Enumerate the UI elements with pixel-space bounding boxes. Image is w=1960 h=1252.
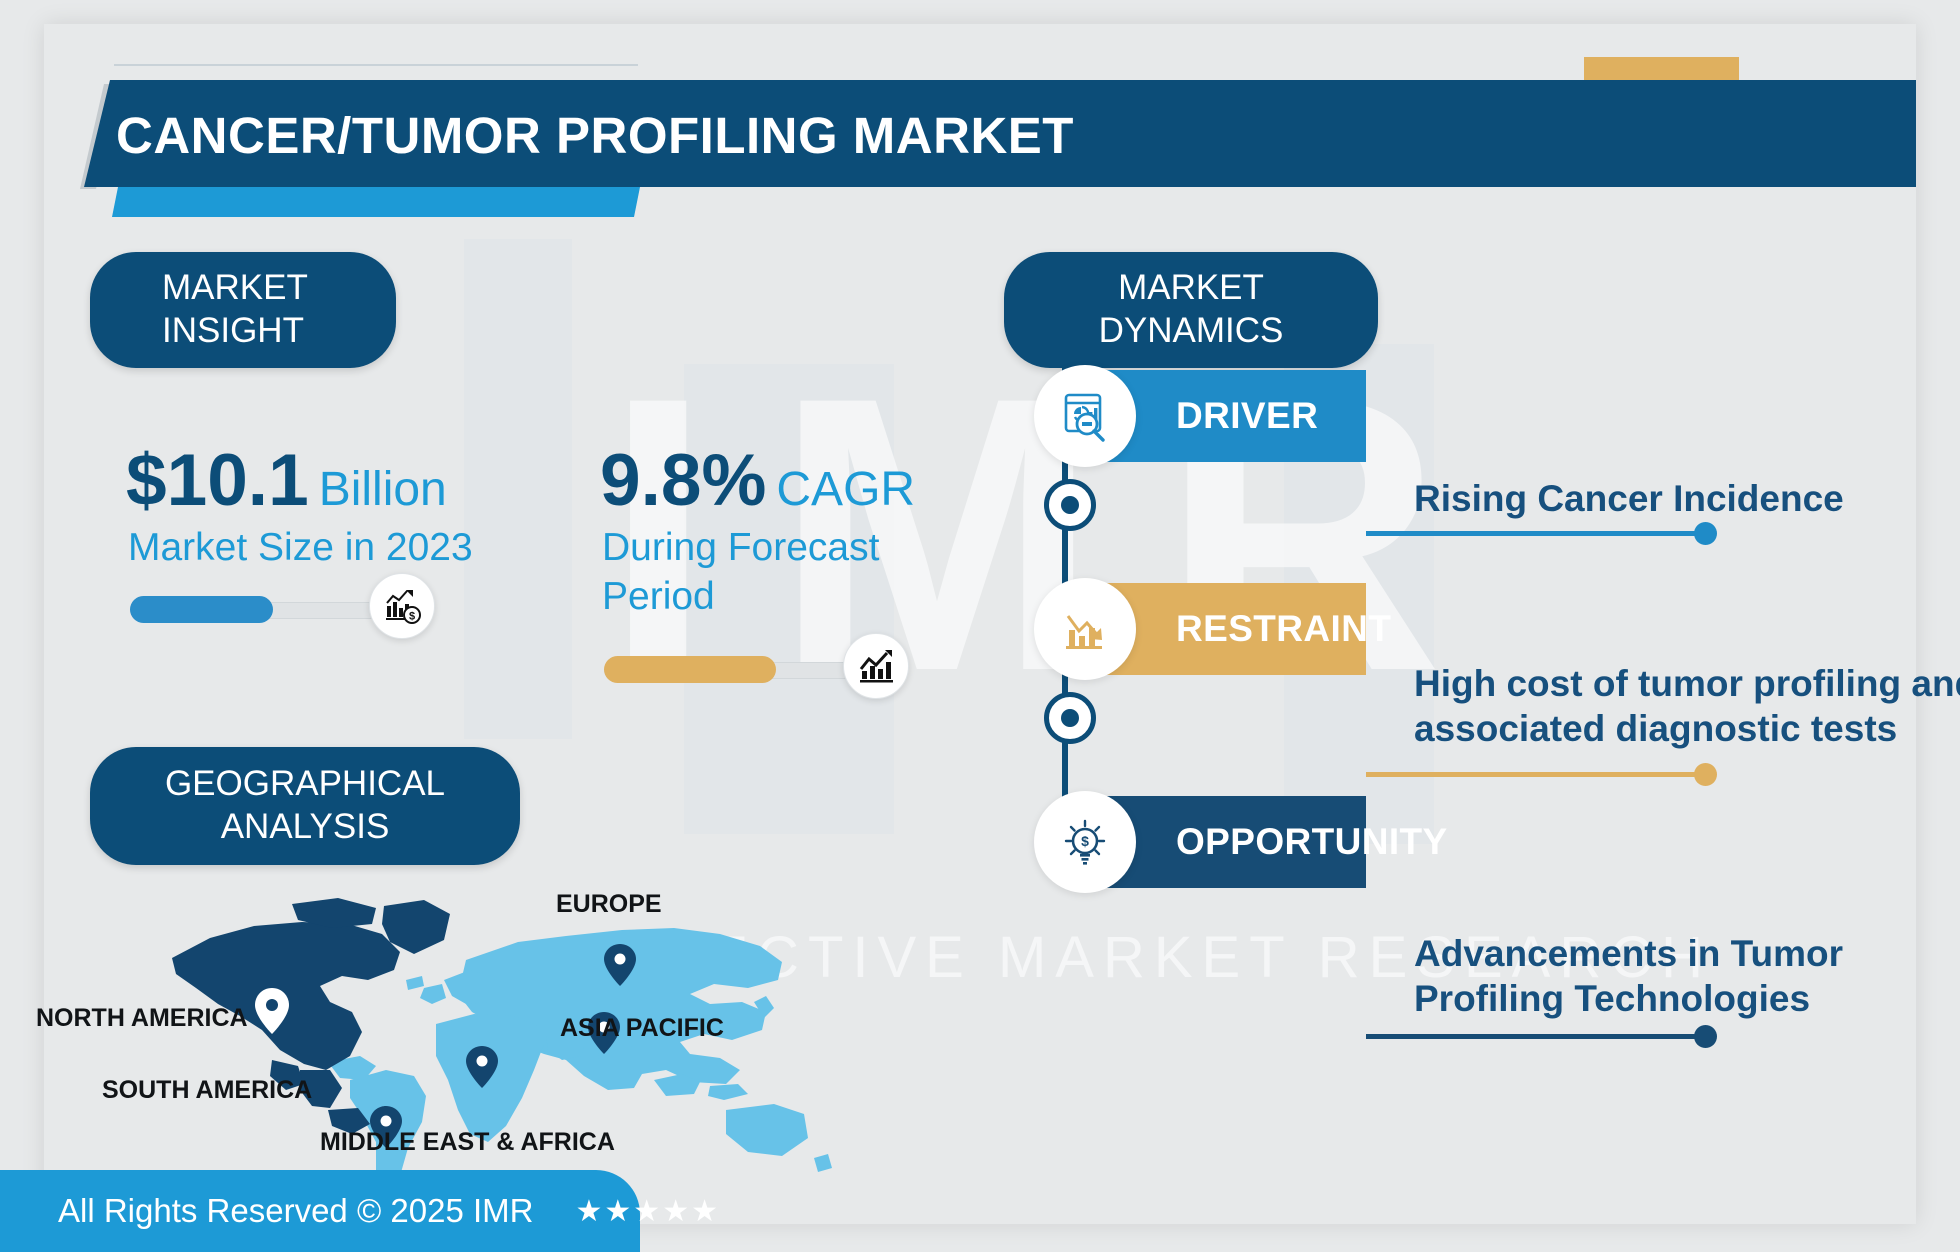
map-label-north-america: NORTH AMERICA <box>36 1004 248 1033</box>
market-size-progress-fill <box>130 596 273 623</box>
cagr-progress-fill <box>604 656 776 683</box>
opportunity-connector <box>1366 1034 1706 1039</box>
opportunity-label: OPPORTUNITY <box>1176 821 1448 863</box>
market-size-stat: $10.1Billion <box>126 439 447 522</box>
market-size-caption: Market Size in 2023 <box>128 524 548 573</box>
rating-stars-icon: ★★★★★ <box>576 1194 720 1229</box>
driver-bar: DRIVER <box>1066 370 1366 462</box>
restraint-text: High cost of tumor profiling and associa… <box>1414 661 1960 751</box>
svg-text:$: $ <box>409 611 415 623</box>
watermark-shape-1 <box>464 239 572 739</box>
market-insight-pill: MARKET INSIGHT <box>90 252 396 368</box>
lightbulb-dollar-glyph: $ <box>1056 813 1114 871</box>
declining-bar-chart-glyph <box>1056 600 1114 658</box>
market-insight-pill-line1: MARKET <box>162 267 308 310</box>
map-label-europe: EUROPE <box>556 890 662 919</box>
restraint-connector <box>1366 772 1706 777</box>
restraint-label: RESTRAINT <box>1176 608 1391 650</box>
cagr-unit: CAGR <box>776 463 915 516</box>
header-underbar <box>112 187 640 217</box>
driver-text: Rising Cancer Incidence <box>1414 476 1960 521</box>
footer-bar: All Rights Reserved © 2025 IMR ★★★★★ <box>0 1170 640 1252</box>
driver-connector <box>1366 531 1706 536</box>
driver-label: DRIVER <box>1176 395 1318 437</box>
declining-bar-chart-icon <box>1034 578 1136 680</box>
map-label-middle-east-africa: MIDDLE EAST & AFRICA <box>320 1128 615 1157</box>
geographical-pill-line2: ANALYSIS <box>221 806 390 849</box>
dynamics-node-2 <box>1044 692 1096 744</box>
map-label-south-america: SOUTH AMERICA <box>102 1076 312 1105</box>
header-gold-accent <box>1584 57 1739 83</box>
header-hairline <box>114 64 638 66</box>
restraint-bar: RESTRAINT <box>1066 583 1366 675</box>
copyright-text: All Rights Reserved © 2025 IMR <box>58 1192 534 1230</box>
page-title: CANCER/TUMOR PROFILING MARKET <box>116 106 1074 165</box>
opportunity-bar: $ OPPORTUNITY <box>1066 796 1366 888</box>
cagr-progress-track <box>604 662 866 679</box>
market-size-unit: Billion <box>319 463 447 516</box>
growth-arrow-chart-icon <box>843 633 909 699</box>
lightbulb-dollar-icon: $ <box>1034 791 1136 893</box>
map-label-asia-pacific: ASIA PACIFIC <box>560 1014 724 1043</box>
analytics-magnifier-icon <box>1034 365 1136 467</box>
market-insight-pill-line2: INSIGHT <box>162 310 304 353</box>
market-size-progress-track <box>130 602 392 619</box>
svg-text:$: $ <box>1081 833 1089 849</box>
growth-arrow-chart-glyph <box>856 646 896 686</box>
analytics-magnifier-glyph <box>1056 387 1114 445</box>
geographical-pill-line1: GEOGRAPHICAL <box>165 763 445 806</box>
driver-connector-dot <box>1694 522 1717 545</box>
cagr-stat: 9.8%CAGR <box>600 439 915 522</box>
market-dynamics-pill: MARKET DYNAMICS <box>1004 252 1378 368</box>
market-dynamics-pill-line1: MARKET <box>1118 267 1264 310</box>
opportunity-connector-dot <box>1694 1025 1717 1048</box>
restraint-connector-dot <box>1694 763 1717 786</box>
bar-chart-dollar-glyph: $ <box>382 586 422 626</box>
opportunity-text: Advancements in Tumor Profiling Technolo… <box>1414 931 1960 1021</box>
infographic-page: IMR SPECTIVE MARKET RESEARCH CANCER/TUMO… <box>0 0 1960 1252</box>
dynamics-node-1 <box>1044 479 1096 531</box>
market-size-value: $10.1 <box>126 440 309 521</box>
cagr-caption: During Forecast Period <box>602 524 902 622</box>
bar-chart-dollar-icon: $ <box>369 573 435 639</box>
geographical-analysis-pill: GEOGRAPHICAL ANALYSIS <box>90 747 520 865</box>
market-dynamics-pill-line2: DYNAMICS <box>1099 310 1284 353</box>
infographic-card: IMR SPECTIVE MARKET RESEARCH CANCER/TUMO… <box>44 24 1916 1224</box>
cagr-value: 9.8% <box>600 440 766 521</box>
